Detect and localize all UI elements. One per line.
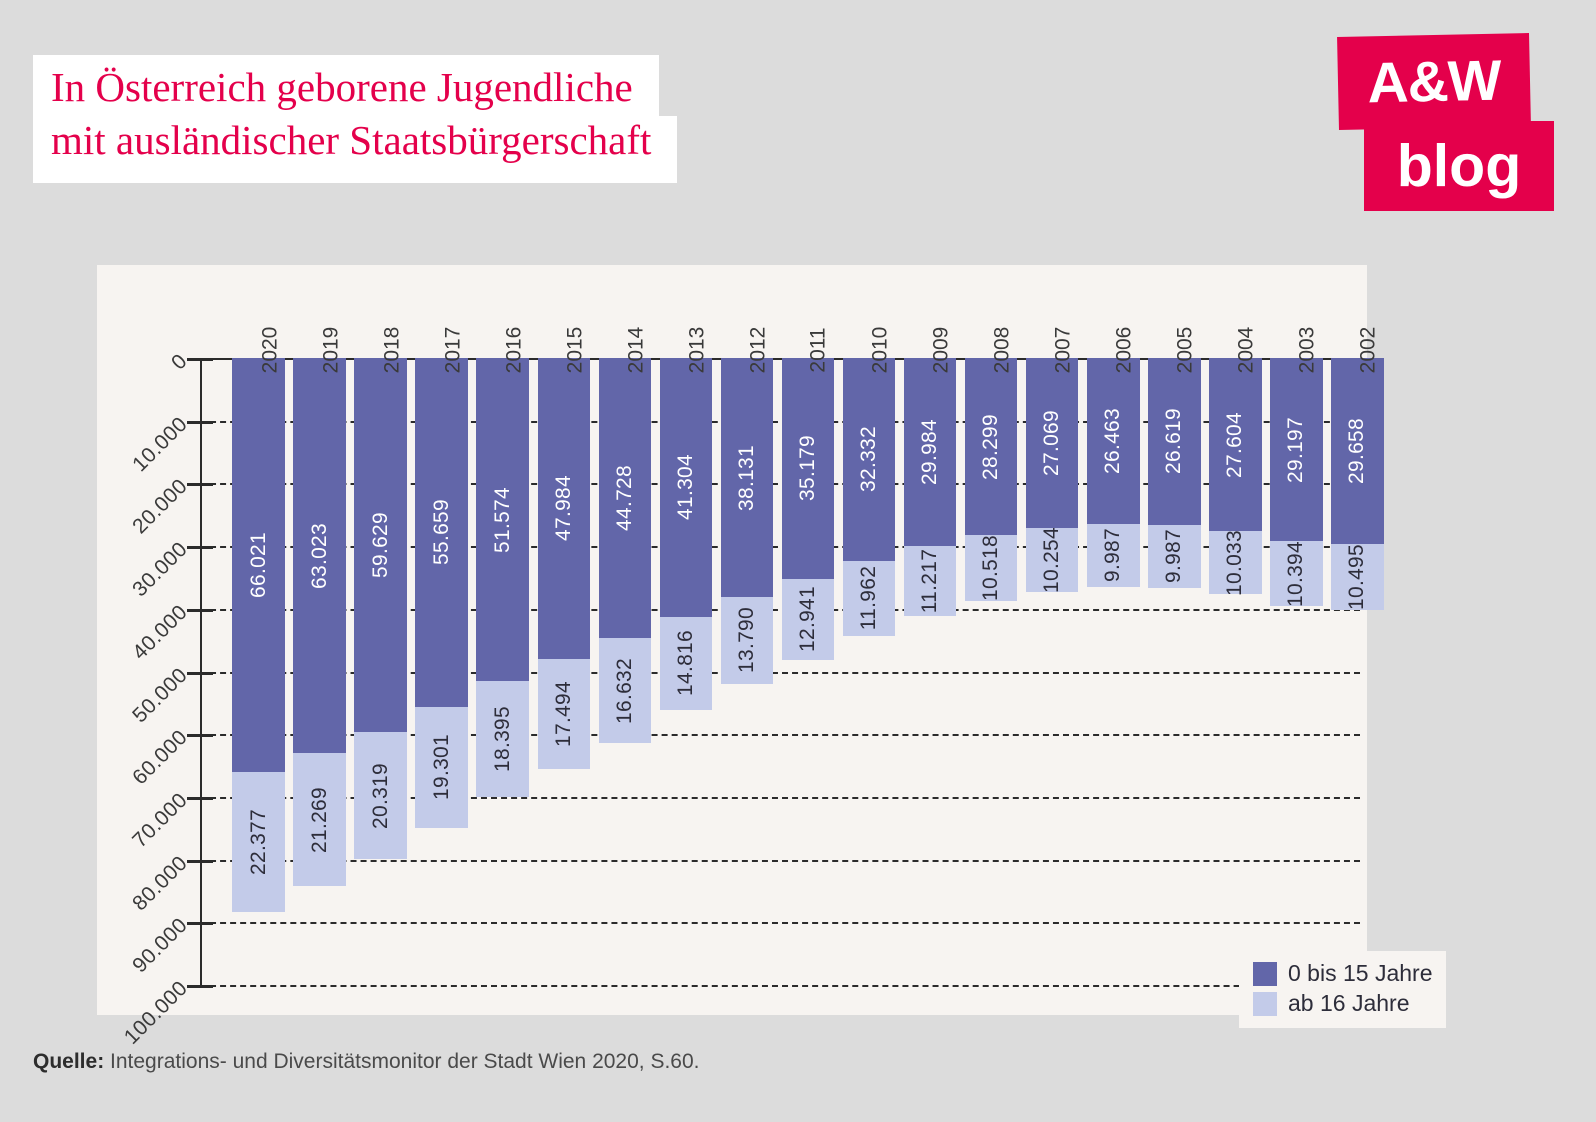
- bar-value-label: 44.728: [613, 465, 637, 531]
- y-tick: [187, 358, 213, 361]
- page-title-line-1: In Österreich geborene Jugendliche: [33, 55, 659, 116]
- bar-segment-ab-16[interactable]: 21.269: [293, 753, 346, 886]
- bar-column[interactable]: 32.33211.9622010: [843, 358, 896, 985]
- y-axis-label: 60.000: [128, 726, 193, 791]
- bar-column[interactable]: 29.98411.2172009: [904, 358, 957, 985]
- y-axis-label: 90.000: [128, 914, 193, 979]
- bar-value-label: 12.941: [796, 586, 820, 652]
- y-tick: [187, 734, 213, 737]
- bar-value-label: 47.984: [552, 475, 576, 541]
- bar-value-label: 10.495: [1345, 544, 1369, 610]
- bar-value-label: 22.377: [247, 809, 271, 875]
- bar-value-label: 27.604: [1223, 412, 1247, 478]
- bar-value-label: 28.299: [979, 414, 1003, 480]
- y-tick: [187, 672, 213, 675]
- bar-column[interactable]: 47.98417.4942015: [538, 358, 591, 985]
- bar-value-label: 17.494: [552, 681, 576, 747]
- bar-value-label: 13.790: [735, 607, 759, 673]
- bar-value-label: 9.987: [1101, 528, 1125, 582]
- bar-value-label: 38.131: [735, 445, 759, 511]
- bar-segment-0-bis-15[interactable]: 41.304: [660, 358, 713, 617]
- bar-segment-0-bis-15[interactable]: 29.197: [1270, 358, 1323, 541]
- y-axis-label: 70.000: [128, 788, 193, 853]
- bar-segment-0-bis-15[interactable]: 38.131: [721, 358, 774, 597]
- bar-value-label: 41.304: [674, 454, 698, 520]
- page-title: In Österreich geborene Jugendliche mit a…: [33, 55, 677, 183]
- bar-segment-ab-16[interactable]: 18.395: [476, 681, 529, 796]
- bar-column[interactable]: 29.65810.4952002: [1331, 358, 1384, 985]
- bar-value-label: 19.301: [430, 734, 454, 800]
- bar-series-group: 66.02122.377202063.02321.269201959.62920…: [200, 358, 1360, 985]
- bar-value-label: 29.984: [918, 419, 942, 485]
- bar-column[interactable]: 55.65919.3012017: [415, 358, 468, 985]
- bar-segment-0-bis-15[interactable]: 47.984: [538, 358, 591, 659]
- bar-segment-ab-16[interactable]: 19.301: [415, 707, 468, 828]
- y-tick: [187, 609, 213, 612]
- bar-segment-0-bis-15[interactable]: 29.984: [904, 358, 957, 546]
- logo-aw-text: A&W: [1337, 33, 1531, 130]
- x-axis-year-label: 2002: [1357, 327, 1381, 374]
- x-axis-year-label: 2004: [1235, 327, 1259, 374]
- y-tick: [187, 860, 213, 863]
- bar-segment-0-bis-15[interactable]: 51.574: [476, 358, 529, 681]
- bar-segment-0-bis-15[interactable]: 32.332: [843, 358, 896, 561]
- x-axis-year-label: 2007: [1052, 327, 1076, 374]
- y-tick: [187, 985, 213, 988]
- x-axis-year-label: 2018: [380, 327, 404, 374]
- bar-segment-ab-16[interactable]: 9.987: [1087, 524, 1140, 587]
- bar-column[interactable]: 41.30414.8162013: [660, 358, 713, 985]
- chart-legend: 0 bis 15 Jahre ab 16 Jahre: [1239, 951, 1446, 1028]
- bar-segment-ab-16[interactable]: 10.394: [1270, 541, 1323, 606]
- bar-segment-ab-16[interactable]: 11.217: [904, 546, 957, 616]
- bar-value-label: 35.179: [796, 435, 820, 501]
- bar-value-label: 51.574: [491, 487, 515, 553]
- bar-column[interactable]: 63.02321.2692019: [293, 358, 346, 985]
- x-axis-year-label: 2013: [685, 327, 709, 374]
- bar-value-label: 59.629: [369, 512, 393, 578]
- y-axis-label: 100.000: [119, 977, 192, 1050]
- x-axis-year-label: 2011: [807, 327, 831, 372]
- x-axis-year-label: 2019: [319, 327, 343, 374]
- bar-value-label: 10.394: [1284, 541, 1308, 607]
- bar-value-label: 32.332: [857, 426, 881, 492]
- bar-segment-ab-16[interactable]: 17.494: [538, 659, 591, 769]
- x-axis-year-label: 2005: [1174, 327, 1198, 374]
- bar-segment-ab-16[interactable]: 22.377: [232, 772, 285, 912]
- bar-column[interactable]: 38.13113.7902012: [721, 358, 774, 985]
- bar-segment-ab-16[interactable]: 12.941: [782, 579, 835, 660]
- legend-swatch-0-bis-15: [1253, 962, 1277, 986]
- x-axis-year-label: 2010: [868, 327, 892, 374]
- bar-column[interactable]: 28.29910.5182008: [965, 358, 1018, 985]
- bar-column[interactable]: 27.06910.2542007: [1026, 358, 1079, 985]
- bar-segment-ab-16[interactable]: 20.319: [354, 732, 407, 859]
- bar-value-label: 63.023: [308, 523, 332, 589]
- bar-segment-ab-16[interactable]: 11.962: [843, 561, 896, 636]
- bar-segment-ab-16[interactable]: 14.816: [660, 617, 713, 710]
- x-axis-year-label: 2015: [563, 327, 587, 374]
- bar-value-label: 20.319: [369, 763, 393, 829]
- bar-value-label: 26.619: [1162, 408, 1186, 474]
- bar-column[interactable]: 59.62920.3192018: [354, 358, 407, 985]
- x-axis-year-label: 2016: [502, 327, 526, 374]
- bar-segment-0-bis-15[interactable]: 55.659: [415, 358, 468, 707]
- y-axis-label: 40.000: [128, 600, 193, 665]
- page-root: In Österreich geborene Jugendliche mit a…: [0, 0, 1596, 1122]
- y-axis-label: 80.000: [128, 851, 193, 916]
- bar-value-label: 55.659: [430, 499, 454, 565]
- bar-value-label: 27.069: [1040, 410, 1064, 476]
- bar-column[interactable]: 27.60410.0332004: [1209, 358, 1262, 985]
- y-axis-label: 0: [167, 350, 193, 376]
- bar-segment-0-bis-15[interactable]: 66.021: [232, 358, 285, 772]
- bar-value-label: 29.197: [1284, 417, 1308, 483]
- legend-label-0-bis-15: 0 bis 15 Jahre: [1288, 960, 1432, 987]
- bar-value-label: 21.269: [308, 787, 332, 853]
- legend-item-0: 0 bis 15 Jahre: [1253, 960, 1432, 987]
- x-axis-year-label: 2020: [258, 327, 282, 374]
- bar-value-label: 14.816: [674, 630, 698, 696]
- x-axis-year-label: 2014: [624, 327, 648, 374]
- y-tick: [187, 421, 213, 424]
- bar-segment-0-bis-15[interactable]: 44.728: [599, 358, 652, 638]
- gridline: [200, 985, 1360, 987]
- bar-segment-ab-16[interactable]: 9.987: [1148, 525, 1201, 588]
- bar-segment-0-bis-15[interactable]: 27.069: [1026, 358, 1079, 528]
- bar-value-label: 11.217: [918, 549, 942, 613]
- bar-segment-0-bis-15[interactable]: 27.604: [1209, 358, 1262, 531]
- bar-segment-ab-16[interactable]: 13.790: [721, 597, 774, 683]
- x-axis-year-label: 2003: [1296, 327, 1320, 374]
- bar-segment-0-bis-15[interactable]: 29.658: [1331, 358, 1384, 544]
- bar-segment-ab-16[interactable]: 16.632: [599, 638, 652, 742]
- bar-column[interactable]: 26.4639.9872006: [1087, 358, 1140, 985]
- aw-blog-logo: A&W blog: [1334, 35, 1560, 210]
- bar-segment-0-bis-15[interactable]: 26.619: [1148, 358, 1201, 525]
- y-tick: [187, 797, 213, 800]
- logo-blog-text: blog: [1364, 121, 1554, 211]
- bar-column[interactable]: 29.19710.3942003: [1270, 358, 1323, 985]
- bar-value-label: 18.395: [491, 706, 515, 772]
- y-tick: [187, 546, 213, 549]
- bar-segment-0-bis-15[interactable]: 26.463: [1087, 358, 1140, 524]
- bar-segment-0-bis-15[interactable]: 28.299: [965, 358, 1018, 535]
- bar-value-label: 10.033: [1223, 530, 1247, 596]
- bar-value-label: 10.518: [979, 535, 1003, 601]
- bar-column[interactable]: 51.57418.3952016: [476, 358, 529, 985]
- y-axis-label: 50.000: [128, 663, 193, 728]
- bar-segment-ab-16[interactable]: 10.495: [1331, 544, 1384, 610]
- x-axis-year-label: 2009: [929, 327, 953, 374]
- bar-column[interactable]: 66.02122.3772020: [232, 358, 285, 985]
- legend-label-ab-16: ab 16 Jahre: [1288, 990, 1409, 1017]
- x-axis-year-label: 2012: [746, 327, 770, 374]
- bar-column[interactable]: 26.6199.9872005: [1148, 358, 1201, 985]
- x-axis-year-label: 2006: [1113, 327, 1137, 374]
- bar-segment-0-bis-15[interactable]: 35.179: [782, 358, 835, 579]
- legend-item-1: ab 16 Jahre: [1253, 990, 1432, 1017]
- y-axis-label: 20.000: [128, 475, 193, 540]
- chart-panel: 010.00020.00030.00040.00050.00060.00070.…: [97, 265, 1367, 1015]
- bar-value-label: 11.962: [857, 566, 881, 630]
- bar-value-label: 16.632: [613, 658, 637, 724]
- y-axis-label: 10.000: [128, 412, 193, 477]
- x-axis-year-label: 2017: [441, 327, 465, 374]
- source-label: Quelle:: [33, 1050, 104, 1073]
- bar-value-label: 26.463: [1101, 408, 1125, 474]
- bar-segment-0-bis-15[interactable]: 59.629: [354, 358, 407, 732]
- legend-swatch-ab-16: [1253, 992, 1277, 1016]
- y-axis-label: 30.000: [128, 538, 193, 603]
- bar-column[interactable]: 44.72816.6322014: [599, 358, 652, 985]
- bar-segment-ab-16[interactable]: 10.518: [965, 535, 1018, 601]
- bar-value-label: 66.021: [247, 532, 271, 598]
- plot-area: 010.00020.00030.00040.00050.00060.00070.…: [200, 358, 1360, 985]
- bar-column[interactable]: 35.17912.9412011: [782, 358, 835, 985]
- page-title-line-2: mit ausländischer Staatsbürgerschaft: [33, 116, 677, 183]
- y-tick: [187, 922, 213, 925]
- bar-segment-ab-16[interactable]: 10.254: [1026, 528, 1079, 592]
- source-note: Quelle: Integrations- und Diversitätsmon…: [33, 1050, 700, 1074]
- source-text: Integrations- und Diversitätsmonitor der…: [104, 1050, 699, 1073]
- bar-value-label: 9.987: [1162, 529, 1186, 583]
- bar-value-label: 10.254: [1040, 527, 1064, 593]
- bar-segment-ab-16[interactable]: 10.033: [1209, 531, 1262, 594]
- bar-segment-0-bis-15[interactable]: 63.023: [293, 358, 346, 753]
- y-tick: [187, 483, 213, 486]
- x-axis-year-label: 2008: [991, 327, 1015, 374]
- bar-value-label: 29.658: [1345, 418, 1369, 484]
